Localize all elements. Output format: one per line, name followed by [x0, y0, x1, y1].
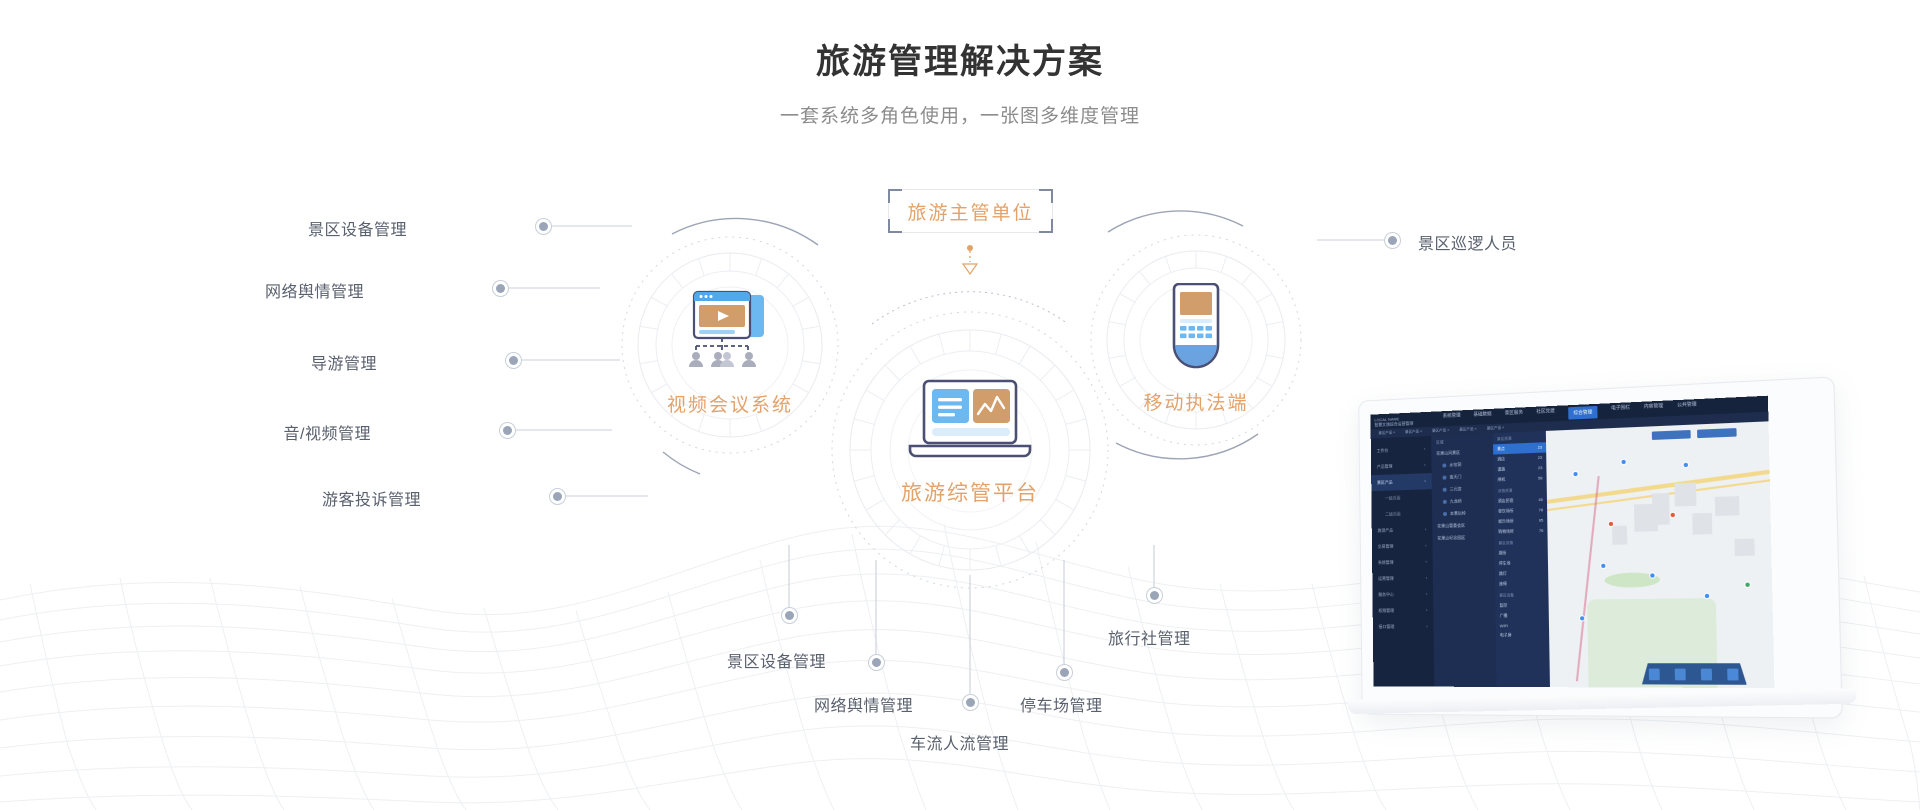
dashboard-region-tree[interactable]: 区域 花果山风景区水帘洞南天门三元宫九龙桥本景后岭花果山管委会区花果山纪念园区 [1431, 433, 1496, 687]
dashboard-layer-item-3-3[interactable]: 电子屏 [1496, 630, 1549, 641]
dashboard-body: 工作台›产品管理›景区产品›一级页面二级页面旅游产品›交易管理›系统管理›运营管… [1371, 421, 1775, 688]
bottom-label-3[interactable]: 停车场管理 [1020, 692, 1103, 716]
left-dot-3[interactable] [499, 422, 516, 439]
dashboard-menu-item-7[interactable]: 公共管理 [1677, 401, 1697, 415]
dashboard-tree-item-7[interactable]: 花果山纪念园区 [1432, 531, 1494, 545]
left-dot-2[interactable] [505, 352, 522, 369]
dashboard-layer-item-3-2[interactable]: WIFI [1496, 621, 1549, 631]
dashboard-tab-4[interactable]: 景区产品 × [1487, 426, 1505, 432]
left-connectors [509, 226, 648, 496]
bottom-dot-2[interactable] [962, 694, 979, 711]
dashboard-sidebar-item-9[interactable]: 服务中心› [1372, 586, 1433, 603]
dashboard-map[interactable] [1546, 421, 1775, 688]
dashboard-sidebar[interactable]: 工作台›产品管理›景区产品›一级页面二级页面旅游产品›交易管理›系统管理›运营管… [1371, 436, 1435, 687]
hub-caption-video: 视频会议系统 [630, 390, 830, 417]
authority-unit-label: 旅游主管单位 [907, 198, 1033, 225]
corner-bracket-bottom-right [1039, 219, 1053, 233]
dashboard-sidebar-item-3[interactable]: 一级页面 [1371, 489, 1432, 507]
authority-unit-box[interactable]: 旅游主管单位 [888, 189, 1053, 233]
dashboard-tab-1[interactable]: 景区产品 × [1405, 429, 1422, 435]
dashboard-layer-group-title-3: 景区设备 [1495, 589, 1548, 601]
dashboard-sidebar-item-4[interactable]: 二级页面 [1372, 505, 1433, 523]
left-label-4[interactable]: 游客投诉管理 [322, 486, 421, 510]
dashboard-menu-item-1[interactable]: 基础数据 [1473, 410, 1491, 423]
right-label-0[interactable]: 景区巡逻人员 [1418, 230, 1517, 254]
dashboard-sidebar-item-10[interactable]: 权限管理› [1373, 602, 1434, 619]
laptop-dashboard-icon [903, 378, 1037, 466]
hub-caption-platform: 旅游综管平台 [860, 477, 1080, 507]
dashboard-layer-item-3-0[interactable]: 监控 [1495, 600, 1548, 611]
left-label-0[interactable]: 景区设备管理 [308, 216, 407, 240]
dashboard-menu-item-5[interactable]: 电子围栏 [1611, 404, 1630, 417]
bottom-dot-4[interactable] [1146, 587, 1163, 604]
dashboard-menu-item-4[interactable]: 综合管理 [1568, 405, 1597, 419]
laptop-mockup: LOCAL NAME 智慧文旅综合运营管理 系统管理基础数据景区服务社区党建综合… [1360, 400, 1920, 740]
map-view-buttons[interactable] [1652, 428, 1737, 440]
bottom-label-2[interactable]: 车流人流管理 [910, 730, 1009, 754]
dashboard-screen[interactable]: LOCAL NAME 智慧文旅综合运营管理 系统管理基础数据景区服务社区党建综合… [1370, 396, 1774, 688]
dashboard-layer-panel[interactable]: 景区资源景点23酒店23道路23闸机58涉旅资源酒店民宿45餐饮场所78娱乐场所… [1493, 431, 1550, 687]
dashboard-logo: LOCAL NAME 智慧文旅综合运营管理 [1371, 414, 1435, 427]
dashboard-menu-item-0[interactable]: 系统管理 [1443, 412, 1461, 425]
page-header: 旅游管理解决方案 一套系统多角色使用，一张图多维度管理 [0, 0, 1920, 128]
dashboard-sidebar-item-6[interactable]: 交易管理› [1372, 538, 1433, 555]
dashboard-sidebar-item-11[interactable]: 接口管理› [1373, 619, 1434, 636]
left-dot-0[interactable] [535, 218, 552, 235]
corner-bracket-top-right [1039, 189, 1053, 203]
left-dot-4[interactable] [549, 488, 566, 505]
dashboard-sidebar-item-5[interactable]: 旅游产品› [1372, 521, 1433, 539]
right-dot-0[interactable] [1384, 232, 1401, 249]
bottom-dot-0[interactable] [781, 607, 798, 624]
authority-connector [963, 245, 977, 274]
dashboard-layer-item-2-3[interactable]: 座椅 [1495, 578, 1548, 589]
bottom-label-4[interactable]: 旅行社管理 [1108, 625, 1191, 649]
dashboard-menu-item-3[interactable]: 社区党建 [1536, 407, 1555, 420]
hub-caption-mobile: 移动执法端 [1110, 388, 1282, 415]
bottom-connectors [789, 545, 1154, 702]
left-label-2[interactable]: 导游管理 [311, 350, 377, 374]
left-label-3[interactable]: 音/视频管理 [284, 420, 371, 444]
solution-diagram-page: 旅游管理解决方案 一套系统多角色使用，一张图多维度管理 [0, 0, 1920, 810]
bottom-dot-1[interactable] [868, 654, 885, 671]
dashboard-tab-0[interactable]: 景区产品 × [1378, 430, 1395, 436]
left-dot-1[interactable] [492, 280, 509, 297]
dashboard-tab-3[interactable]: 景区产品 × [1459, 427, 1477, 433]
map-dock[interactable] [1642, 663, 1747, 685]
dashboard-menu-item-2[interactable]: 景区服务 [1505, 409, 1523, 422]
dashboard-sidebar-item-7[interactable]: 系统管理› [1372, 554, 1433, 571]
bottom-label-1[interactable]: 网络舆情管理 [814, 692, 913, 716]
bottom-label-0[interactable]: 景区设备管理 [727, 648, 826, 672]
page-title: 旅游管理解决方案 [0, 0, 1920, 83]
handheld-device-icon [1165, 283, 1227, 371]
corner-bracket-bottom-left [888, 219, 902, 233]
left-label-1[interactable]: 网络舆情管理 [265, 278, 364, 302]
page-subtitle: 一套系统多角色使用，一张图多维度管理 [0, 83, 1920, 128]
dashboard-menu-item-6[interactable]: 内容管理 [1644, 402, 1663, 415]
dashboard-sidebar-item-8[interactable]: 运营管理› [1372, 570, 1433, 587]
bottom-dot-3[interactable] [1056, 664, 1073, 681]
video-conference-icon [678, 290, 782, 370]
dashboard-sidebar-item-2[interactable]: 景区产品› [1371, 473, 1432, 491]
dashboard-layer-item-3-1[interactable]: 广播 [1496, 610, 1549, 621]
corner-bracket-top-left [888, 189, 902, 203]
dashboard-tab-2[interactable]: 景区产品 × [1432, 428, 1449, 434]
